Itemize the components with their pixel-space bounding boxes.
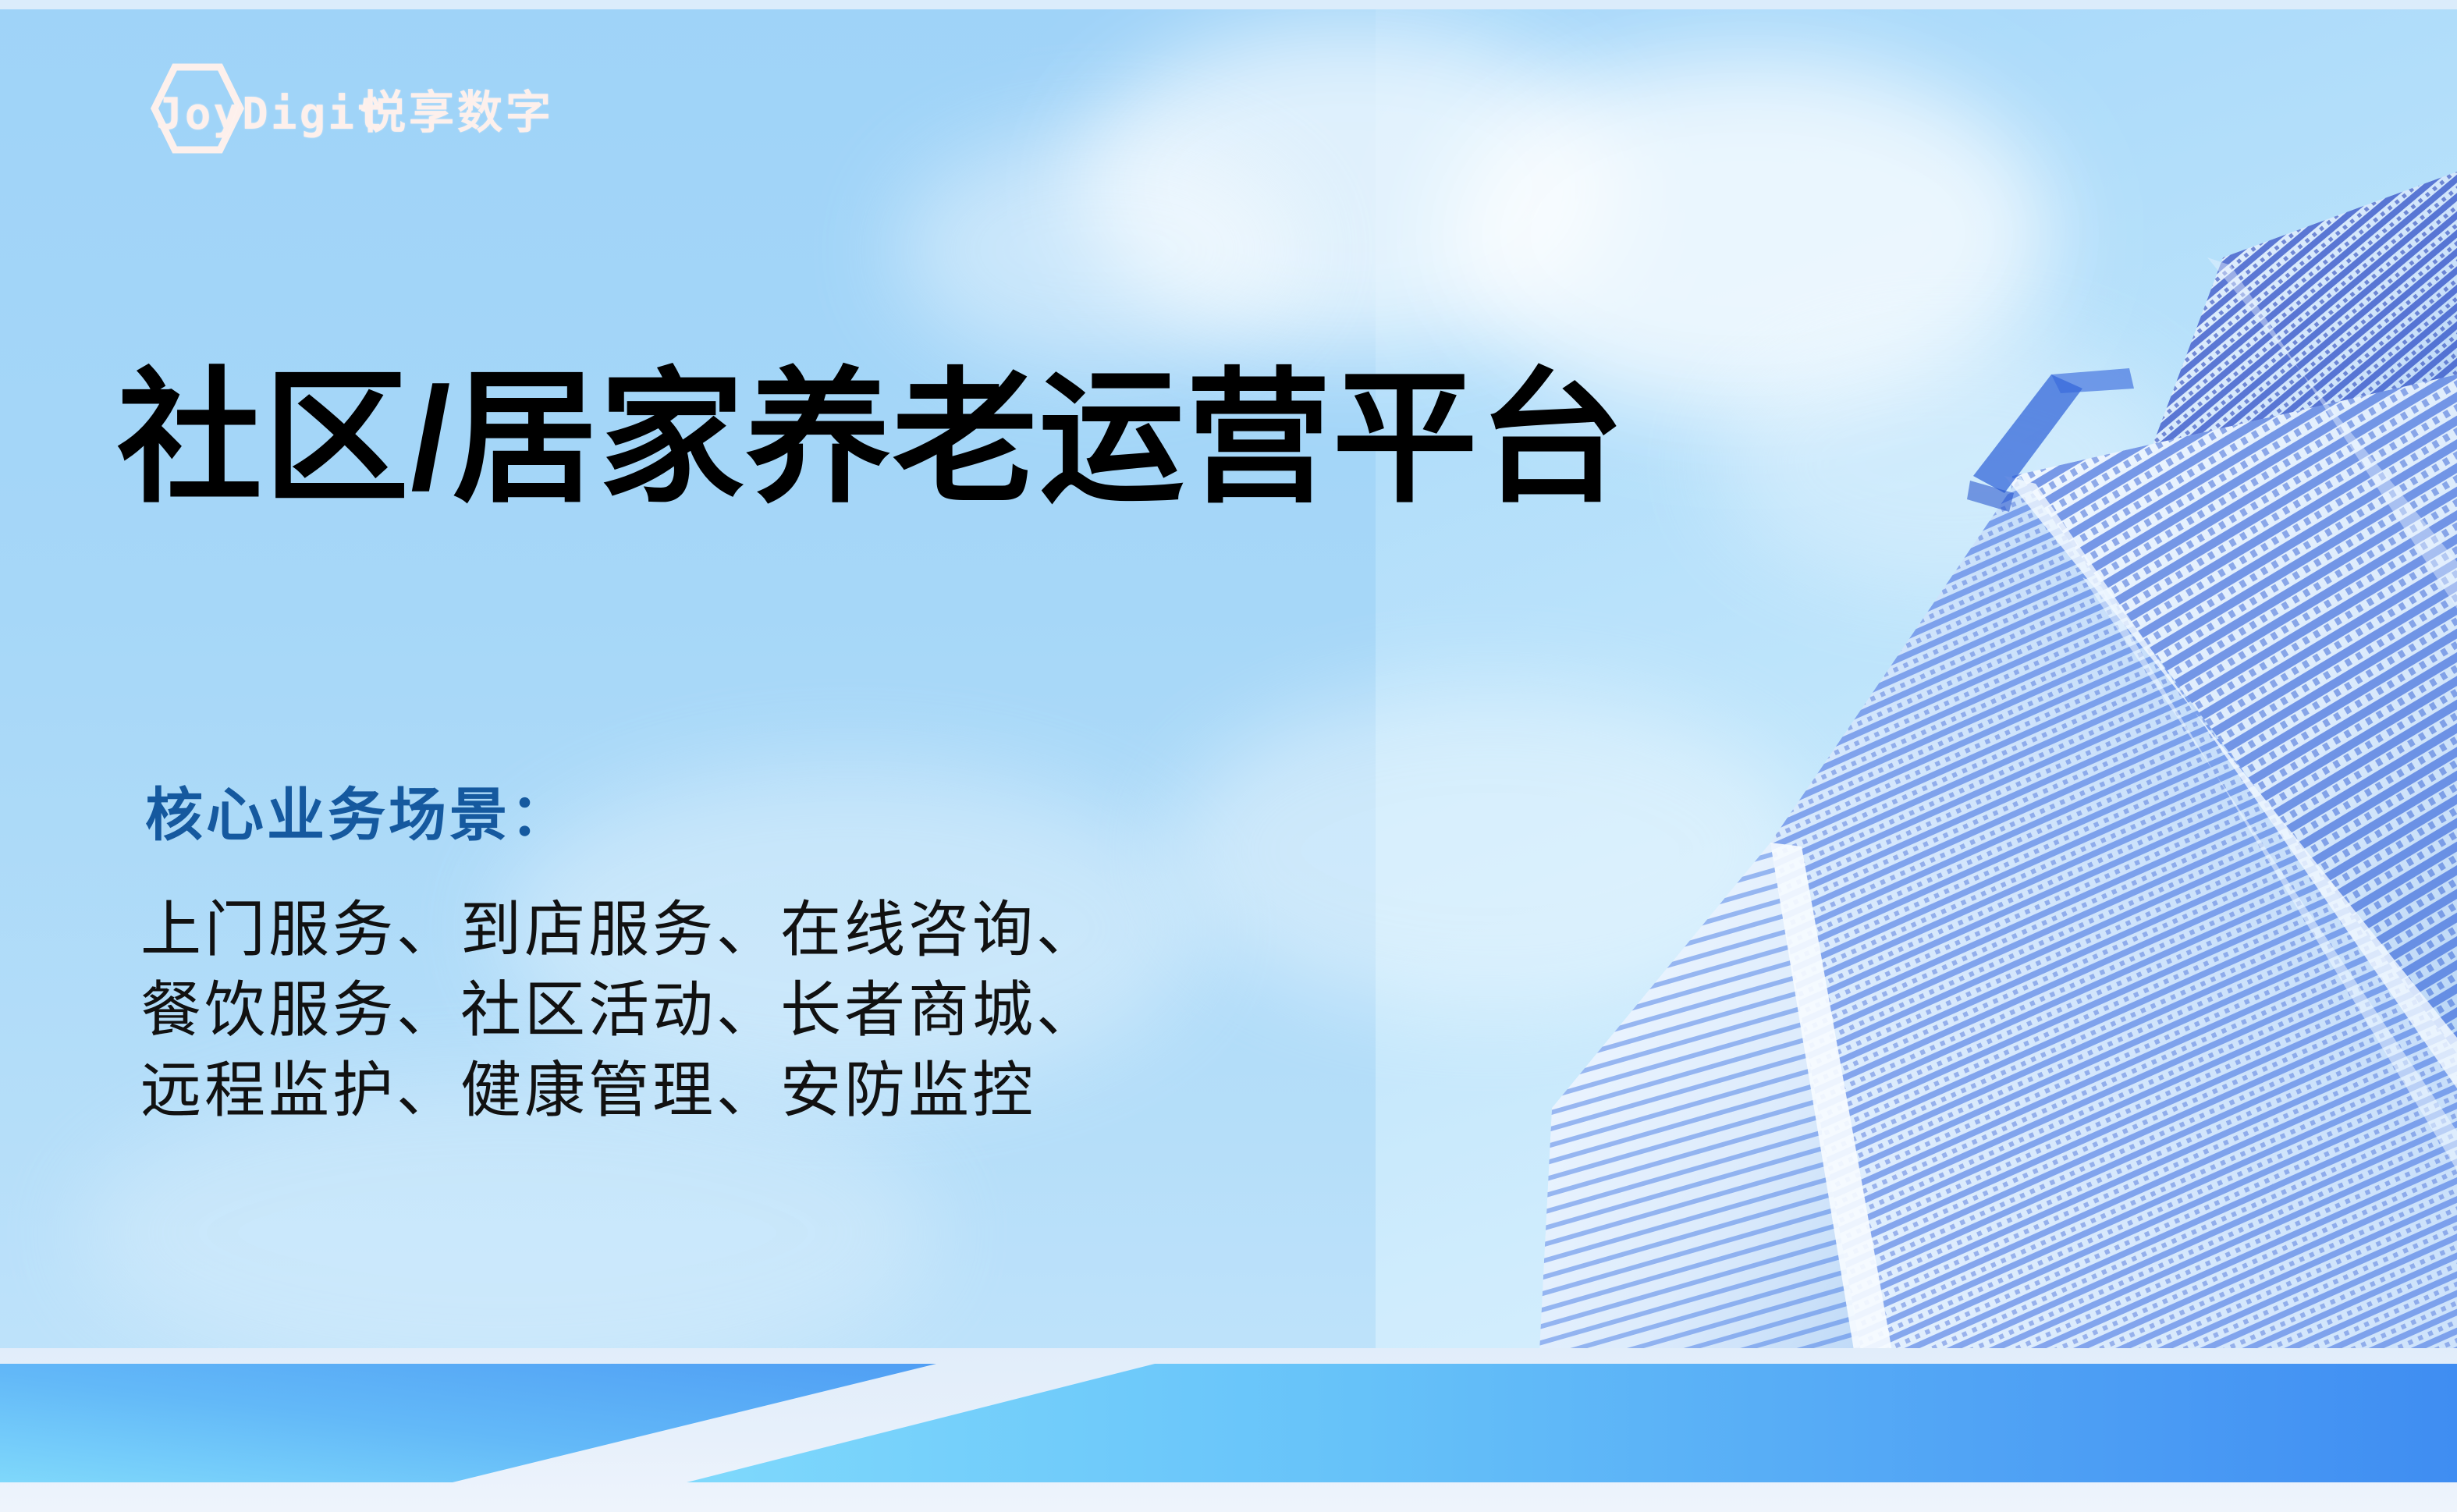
core-scenarios-heading: 核心业务场景： (145, 768, 1100, 852)
bottom-decorative-banner (0, 1348, 2457, 1512)
sky-left-wash (0, 0, 1376, 1512)
core-scenarios-line: 餐饮服务、社区活动、长者商城、 (140, 970, 1100, 1050)
page-title: 社区/居家养老运营平台 (117, 363, 1626, 515)
logo-wordmark-cn: 悦享数字 (360, 76, 554, 141)
brand-logo: JoyDigit 悦享数字 (139, 62, 554, 154)
slide-root: JoyDigit 悦享数字 社区/居家养老运营平台 核心业务场景： 上门服务、到… (0, 0, 2457, 1512)
core-scenarios-list: 上门服务、到店服务、在线咨询、 餐饮服务、社区活动、长者商城、 远程监护、健康管… (140, 889, 1100, 1130)
core-scenarios-line: 远程监护、健康管理、安防监控 (140, 1050, 1100, 1130)
hexagon-outline-icon: JoyDigit (139, 62, 256, 154)
core-scenarios-block: 核心业务场景： 上门服务、到店服务、在线咨询、 餐饮服务、社区活动、长者商城、 … (140, 768, 1100, 1130)
core-scenarios-line: 上门服务、到店服务、在线咨询、 (140, 889, 1100, 970)
logo-wordmark-latin: JoyDigit (156, 89, 385, 140)
top-edge-strip (0, 0, 2457, 9)
